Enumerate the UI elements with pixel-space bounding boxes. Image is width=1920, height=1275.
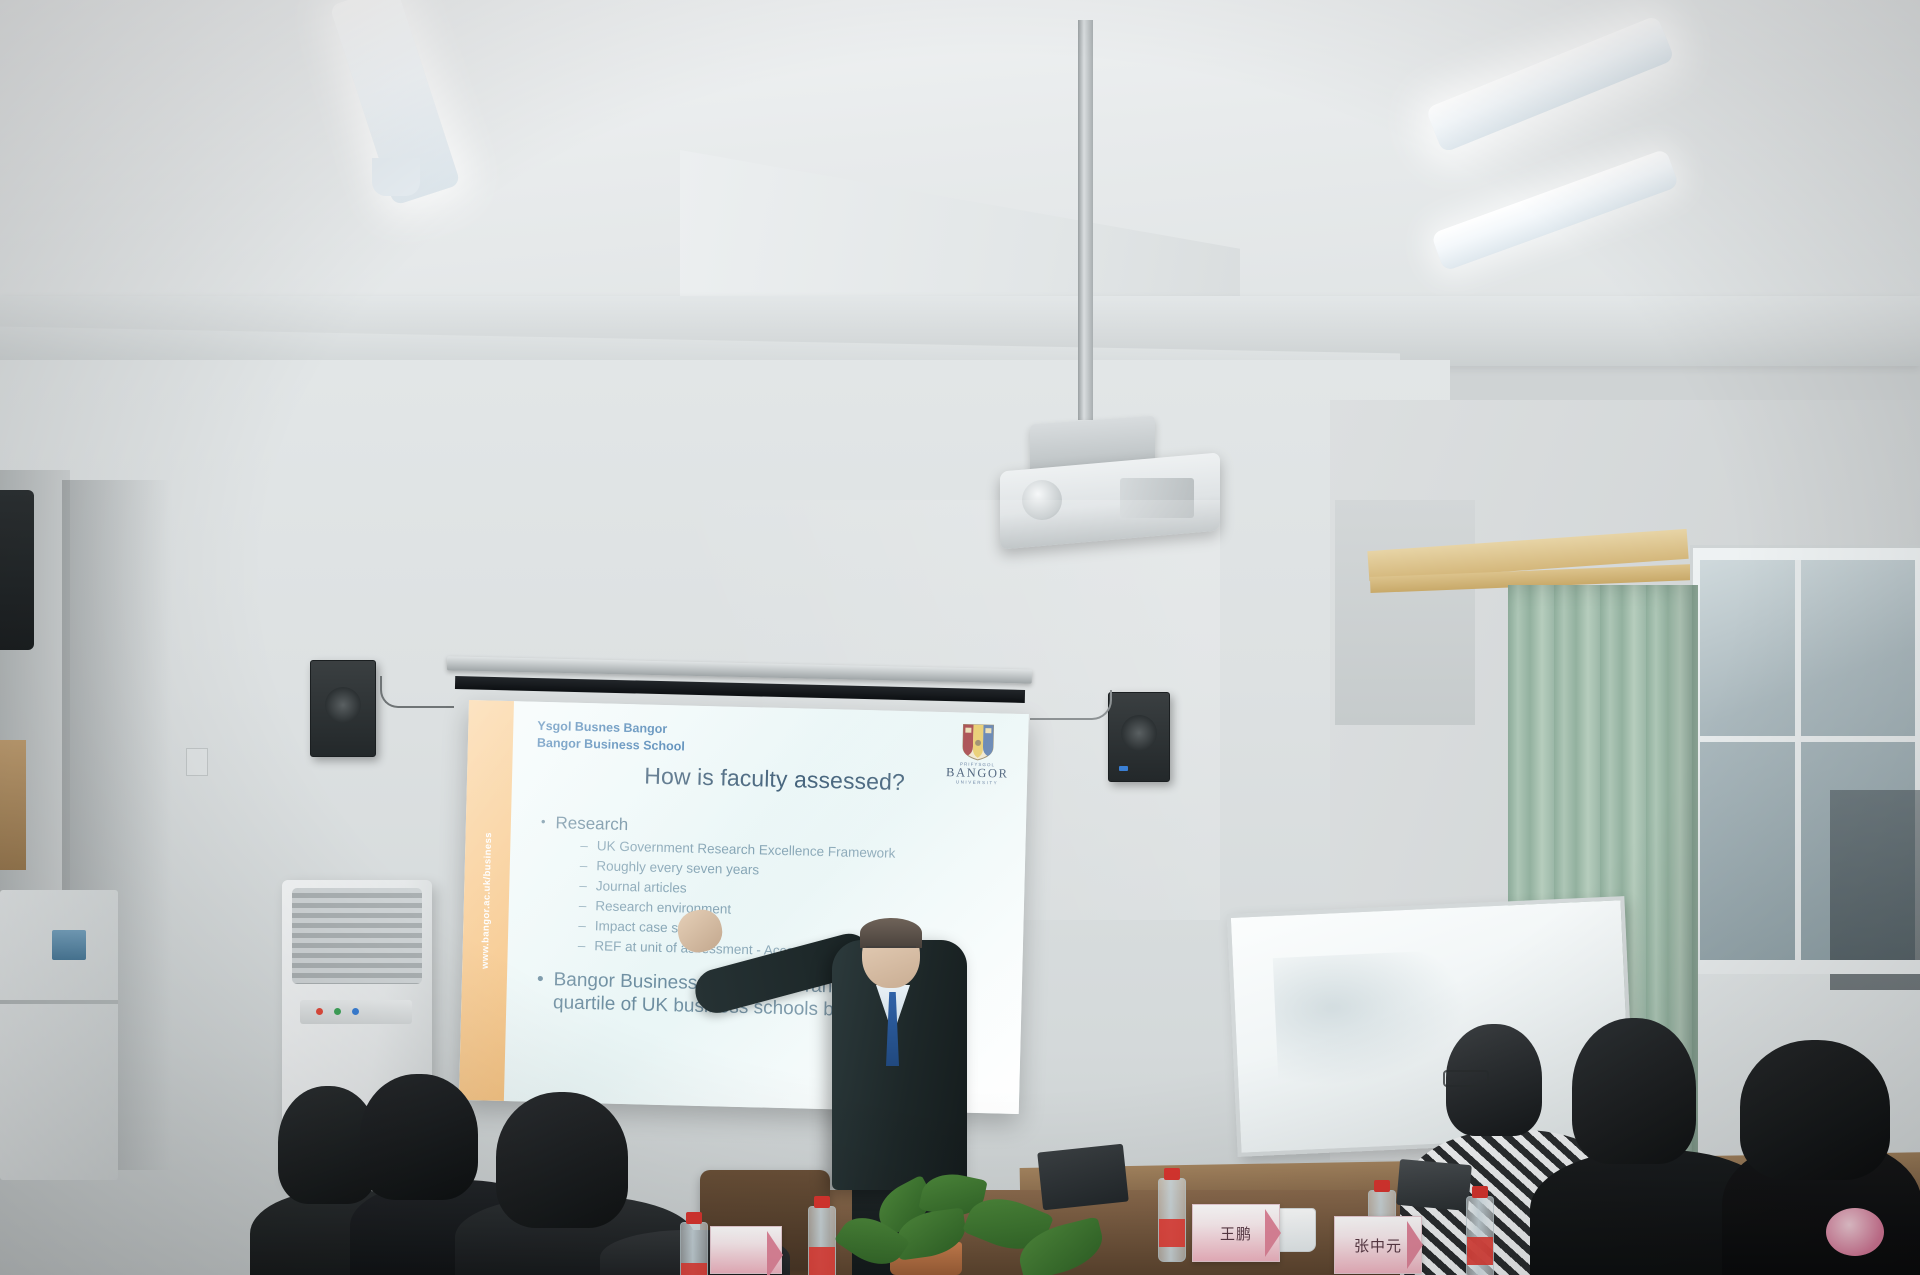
bottle-label bbox=[681, 1263, 707, 1275]
bullet-dash-icon: – bbox=[578, 918, 586, 933]
speaker-cone-icon bbox=[1121, 715, 1157, 751]
name-card-fold-icon bbox=[767, 1231, 783, 1275]
wall-trim-wood bbox=[0, 740, 26, 870]
name-card-text: 王鹏 bbox=[1220, 1223, 1252, 1244]
bottle-cap-icon bbox=[686, 1212, 702, 1224]
screen-cable bbox=[380, 676, 454, 708]
speaker-cone-icon bbox=[325, 687, 361, 723]
slide-title: How is faculty assessed? bbox=[536, 759, 1014, 798]
hair-flower-ornament-icon bbox=[1826, 1208, 1884, 1256]
bullet-dot-icon: • bbox=[541, 813, 546, 833]
water-bottle[interactable] bbox=[808, 1206, 836, 1275]
cabinet-seam bbox=[0, 1000, 118, 1004]
presenter-glasses-icon bbox=[866, 946, 916, 958]
bottle-label bbox=[1467, 1237, 1493, 1265]
window-mullion-horizontal bbox=[1700, 736, 1915, 742]
bullet-dash-icon: – bbox=[580, 858, 588, 873]
bullet-dash-icon: – bbox=[579, 878, 587, 893]
window-sill bbox=[1688, 960, 1920, 974]
ac-led-green-icon bbox=[334, 1008, 341, 1015]
attendee-right-3-head bbox=[1740, 1040, 1890, 1180]
bottle-label bbox=[809, 1247, 835, 1275]
name-card bbox=[710, 1226, 782, 1274]
attendee-right-2-head bbox=[1572, 1018, 1696, 1164]
projector-pole bbox=[1078, 20, 1093, 420]
air-conditioner-vent bbox=[292, 888, 422, 984]
attendee-left-2-head bbox=[360, 1074, 478, 1200]
wall-speaker-left bbox=[310, 660, 376, 757]
fluorescent-tube-left-end bbox=[372, 158, 420, 196]
wall-upper-band bbox=[1335, 500, 1475, 725]
bottle-cap-icon bbox=[1374, 1180, 1390, 1192]
name-card-text: 张中元 bbox=[1354, 1235, 1402, 1256]
laptop[interactable] bbox=[1037, 1144, 1129, 1211]
bullet-dot-icon: • bbox=[536, 968, 544, 1014]
bullet-dash-icon: – bbox=[579, 898, 587, 913]
attendee-left-3-head bbox=[496, 1092, 628, 1228]
water-bottle[interactable] bbox=[680, 1222, 708, 1275]
laptop-secondary[interactable] bbox=[1396, 1159, 1472, 1211]
bullet-dash-icon: – bbox=[578, 938, 586, 953]
speaker-power-led-icon bbox=[1119, 766, 1128, 771]
bangor-university-logo: PRIFYSGOL BANGOR UNIVERSITY bbox=[943, 722, 1013, 794]
name-card: 王鹏 bbox=[1192, 1204, 1280, 1262]
name-card: 张中元 bbox=[1334, 1216, 1422, 1274]
projector-lens-icon bbox=[1022, 480, 1062, 520]
presenter-hair bbox=[860, 918, 922, 948]
crest-shield-icon bbox=[961, 722, 996, 761]
attendee-right-1-glasses-icon bbox=[1443, 1070, 1489, 1087]
water-bottle[interactable] bbox=[1466, 1196, 1494, 1275]
bottle-cap-icon bbox=[814, 1196, 830, 1208]
slide-bullet-text: Roughly every seven years bbox=[596, 858, 759, 877]
projector-vent bbox=[1120, 478, 1194, 518]
slide-bullet-text: Journal articles bbox=[596, 878, 687, 895]
wall-speaker-right bbox=[1108, 692, 1170, 782]
slide-bullet-text: UK Government Research Excellence Framew… bbox=[597, 838, 896, 861]
wall-socket bbox=[186, 748, 208, 776]
bottle-label bbox=[1159, 1219, 1185, 1247]
cabinet-blue-panel bbox=[52, 930, 86, 960]
bullet-dash-icon: – bbox=[580, 838, 588, 853]
whiteboard-smudge bbox=[1273, 949, 1469, 1087]
window-mullion-vertical bbox=[1795, 560, 1801, 960]
classroom-photo-scene: www.bangor.ac.uk/business Ysgol Busnes B… bbox=[0, 0, 1920, 1275]
screen-cable-right bbox=[1030, 690, 1112, 720]
bottle-cap-icon bbox=[1472, 1186, 1488, 1198]
ac-led-blue-icon bbox=[352, 1008, 359, 1015]
slide-sidebar-url: www.bangor.ac.uk/business bbox=[479, 832, 493, 969]
wall-fixture-dark bbox=[0, 490, 34, 650]
slide-bullet-text: Research bbox=[555, 813, 628, 835]
water-bottle[interactable] bbox=[1158, 1178, 1186, 1262]
name-card-fold-icon bbox=[1407, 1221, 1423, 1269]
ac-led-red-icon bbox=[316, 1008, 323, 1015]
bottle-cap-icon bbox=[1164, 1168, 1180, 1180]
name-card-fold-icon bbox=[1265, 1209, 1281, 1257]
